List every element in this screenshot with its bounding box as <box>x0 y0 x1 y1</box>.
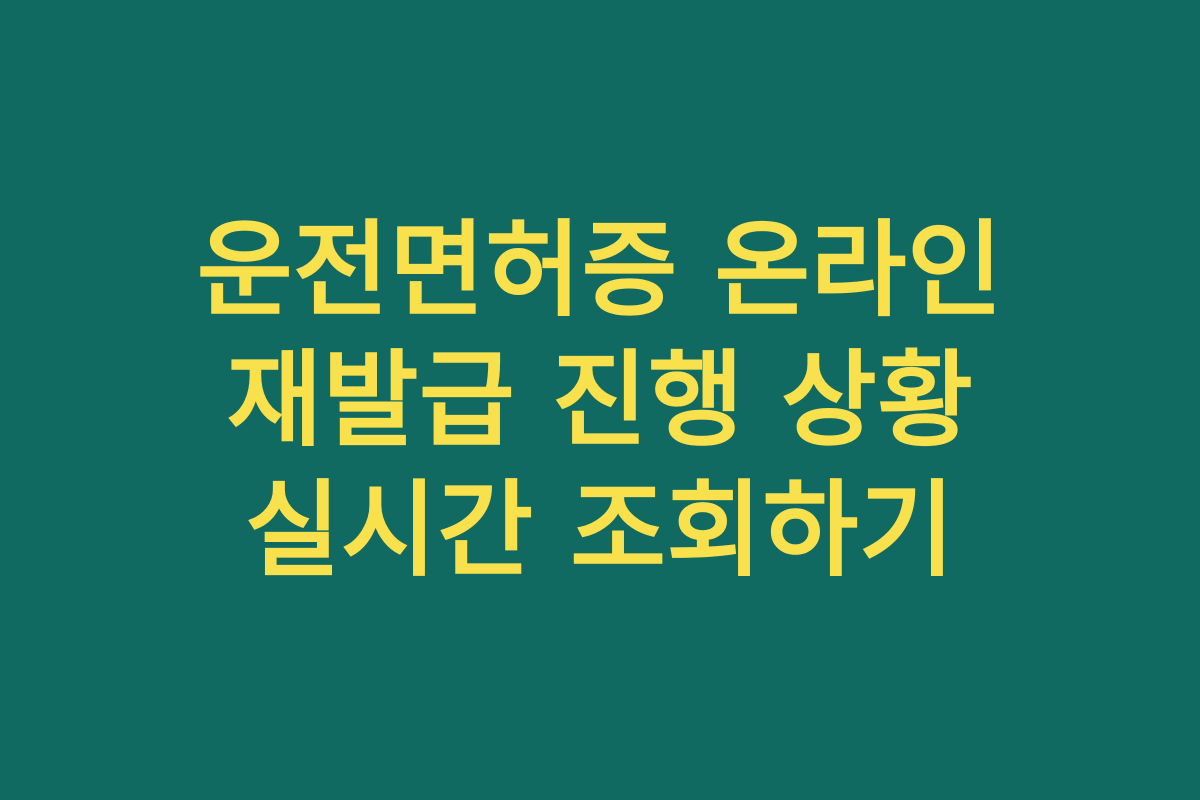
title-block: 운전면허증 온라인 재발급 진행 상황 실시간 조회하기 <box>95 205 1105 595</box>
thumbnail-card: 운전면허증 온라인 재발급 진행 상황 실시간 조회하기 <box>0 0 1200 800</box>
page-title: 운전면허증 온라인 재발급 진행 상황 실시간 조회하기 <box>95 205 1105 595</box>
